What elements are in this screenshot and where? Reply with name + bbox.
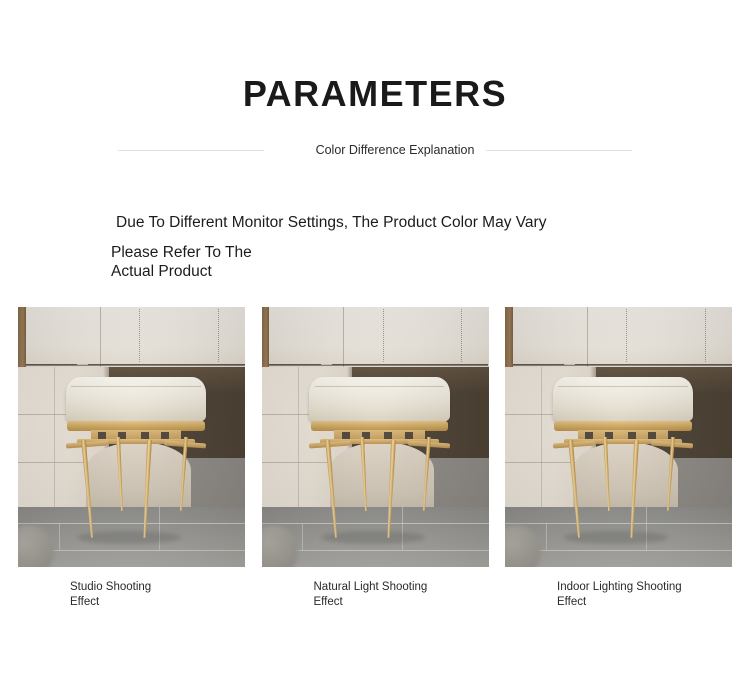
stool-leg — [666, 437, 675, 511]
photo-gallery: Studio Shooting Effect — [18, 307, 732, 610]
product-photo-natural-light[interactable] — [262, 307, 489, 567]
stool-leg — [360, 437, 368, 511]
divider-line-left — [118, 150, 264, 151]
scene-upper-cabinet — [505, 307, 732, 367]
stool-leg — [422, 437, 431, 511]
stool-seat — [553, 377, 694, 422]
stool-leg — [629, 440, 639, 538]
stool-rail — [553, 441, 595, 449]
photo-caption: Indoor Lighting Shooting Effect — [557, 580, 732, 610]
subtitle-row: Color Difference Explanation — [118, 138, 632, 162]
divider-line-right — [486, 150, 632, 151]
color-notice-line-1: Due To Different Monitor Settings, The P… — [116, 214, 546, 232]
stool-leg — [116, 437, 124, 511]
gallery-item: Natural Light Shooting Effect — [262, 307, 489, 610]
color-notice-line-2: Please Refer To The Actual Product — [111, 243, 252, 281]
stool-leg — [568, 440, 582, 538]
photo-caption: Studio Shooting Effect — [70, 580, 245, 610]
stool-leg — [81, 440, 95, 538]
gallery-item: Studio Shooting Effect — [18, 307, 245, 610]
stool-leg — [386, 440, 396, 538]
stool-seat — [66, 377, 207, 422]
product-photo-studio[interactable] — [18, 307, 245, 567]
subtitle-text: Color Difference Explanation — [316, 142, 475, 158]
product-photo-indoor-lighting[interactable] — [505, 307, 732, 567]
product-stool — [309, 377, 450, 538]
stool-leg — [179, 437, 188, 511]
product-stool — [553, 377, 694, 538]
stool-leg — [325, 440, 339, 538]
page-title: PARAMETERS — [0, 74, 750, 114]
photo-caption: Natural Light Shooting Effect — [314, 580, 489, 610]
scene-upper-cabinet — [262, 307, 489, 367]
stool-rail — [66, 441, 108, 449]
stool-leg — [142, 440, 152, 538]
gallery-item: Indoor Lighting Shooting Effect — [505, 307, 732, 610]
product-stool — [66, 377, 207, 538]
stool-leg — [603, 437, 611, 511]
scene-upper-cabinet — [18, 307, 245, 367]
stool-seat — [309, 377, 450, 422]
